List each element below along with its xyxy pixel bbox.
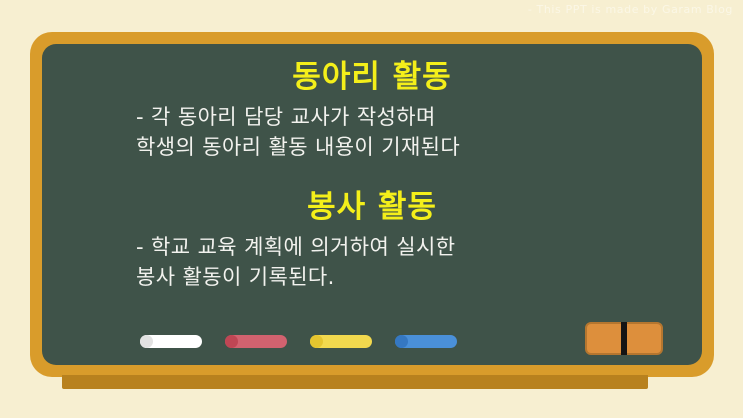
chalk-cap: [395, 335, 408, 348]
chalk-stick-red-icon: [225, 335, 287, 348]
body-line: - 각 동아리 담당 교사가 작성하며: [136, 103, 680, 133]
body-line: 학생의 동아리 활동 내용이 기재된다: [136, 133, 680, 163]
chalkboard-content: 동아리 활동 - 각 동아리 담당 교사가 작성하며 학생의 동아리 활동 내용…: [42, 44, 702, 365]
chalkboard-ledge: [62, 375, 648, 389]
chalk-cap: [310, 335, 323, 348]
section-body-volunteer-activity: - 학교 교육 계획에 의거하여 실시한 봉사 활동이 기록된다.: [64, 233, 680, 293]
chalkboard-surface: 동아리 활동 - 각 동아리 담당 교사가 작성하며 학생의 동아리 활동 내용…: [42, 44, 702, 365]
chalk-stick-blue-icon: [395, 335, 457, 348]
chalk-cap: [225, 335, 238, 348]
chalk-cap: [140, 335, 153, 348]
section-heading-volunteer-activity: 봉사 활동: [64, 188, 680, 227]
chalk-stick-white-icon: [140, 335, 202, 348]
chalk-stick-yellow-icon: [310, 335, 372, 348]
slide-canvas: - This PPT is made by Garam Blog 동아리 활동 …: [0, 0, 743, 418]
section-heading-club-activity: 동아리 활동: [64, 58, 680, 97]
body-line: - 학교 교육 계획에 의거하여 실시한: [136, 233, 680, 263]
eraser-stripe: [621, 322, 627, 355]
chalkboard-frame: 동아리 활동 - 각 동아리 담당 교사가 작성하며 학생의 동아리 활동 내용…: [30, 32, 714, 377]
section-body-club-activity: - 각 동아리 담당 교사가 작성하며 학생의 동아리 활동 내용이 기재된다: [64, 103, 680, 163]
board-eraser-icon: [585, 322, 663, 355]
body-line: 봉사 활동이 기록된다.: [136, 263, 680, 293]
chalk-tray: [140, 335, 457, 348]
watermark-text: - This PPT is made by Garam Blog: [528, 3, 733, 16]
